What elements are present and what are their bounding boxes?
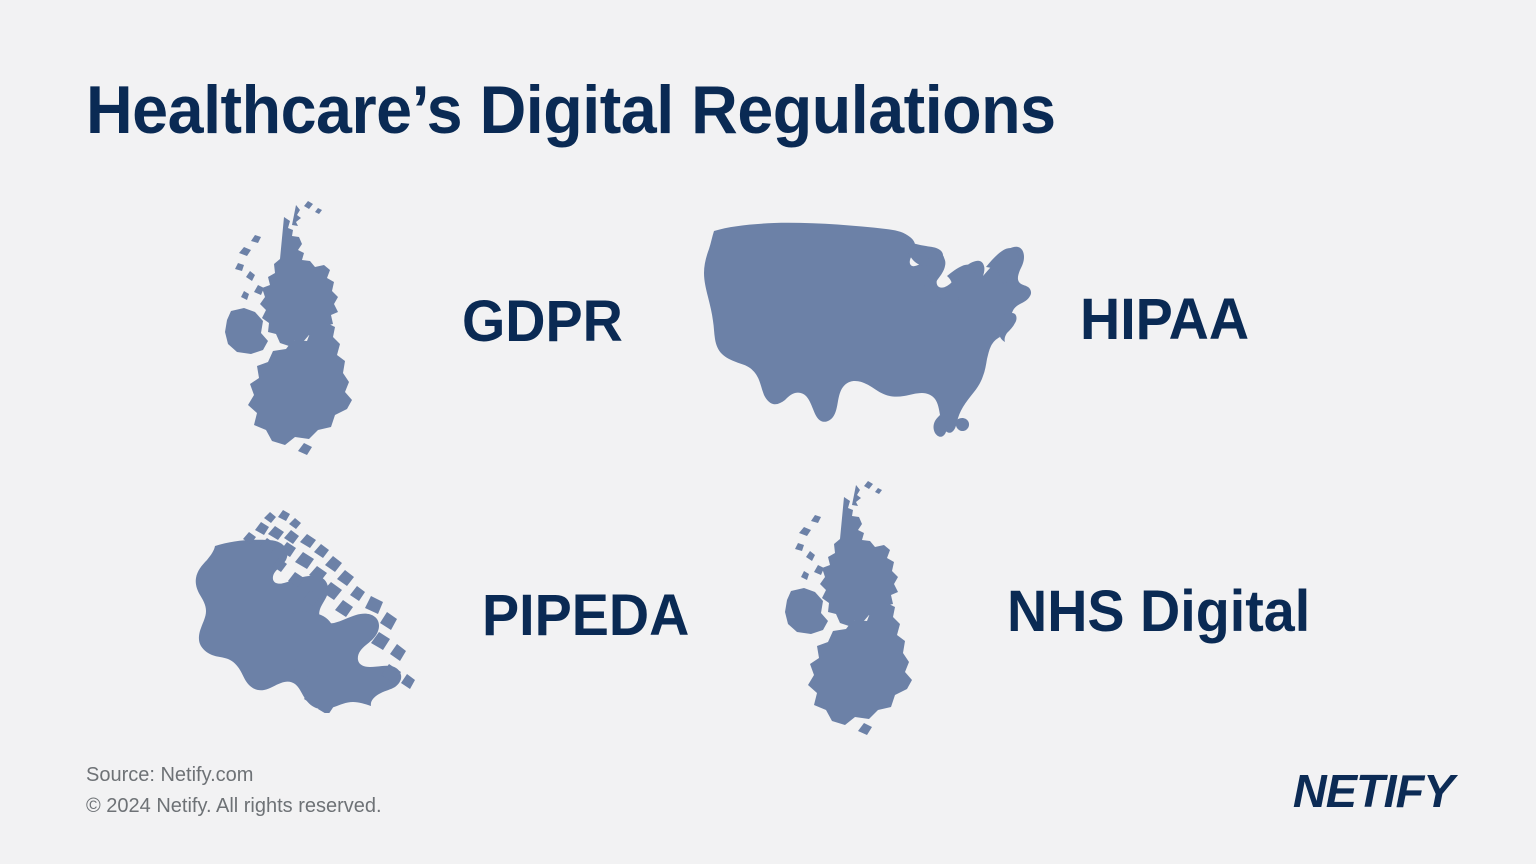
canada-map-icon (175, 508, 440, 713)
united-kingdom-map-icon (760, 479, 945, 741)
regulations-grid: GDPR HIPAA (0, 190, 1536, 750)
regulation-label-gdpr: GDPR (462, 293, 623, 351)
regulation-item-pipeda: PIPEDA (175, 470, 775, 750)
page-title: Healthcare’s Digital Regulations (86, 76, 1056, 144)
infographic-canvas: Healthcare’s Digital Regulations GDPR (0, 0, 1536, 864)
regulation-item-gdpr: GDPR (200, 190, 760, 470)
united-states-map-icon (700, 219, 1035, 441)
footer-copyright: © 2024 Netify. All rights reserved. (86, 791, 382, 822)
regulation-label-hipaa: HIPAA (1080, 291, 1249, 349)
netify-logo: NETIFY (1293, 764, 1454, 818)
regulation-label-nhs-digital: NHS Digital (1007, 583, 1310, 641)
united-kingdom-map-icon (200, 199, 400, 461)
footer: Source: Netify.com © 2024 Netify. All ri… (86, 760, 382, 822)
regulation-item-nhs-digital: NHS Digital (760, 470, 1440, 750)
regulation-label-pipeda: PIPEDA (482, 587, 689, 645)
regulation-item-hipaa: HIPAA (700, 190, 1320, 470)
footer-source: Source: Netify.com (86, 760, 382, 791)
